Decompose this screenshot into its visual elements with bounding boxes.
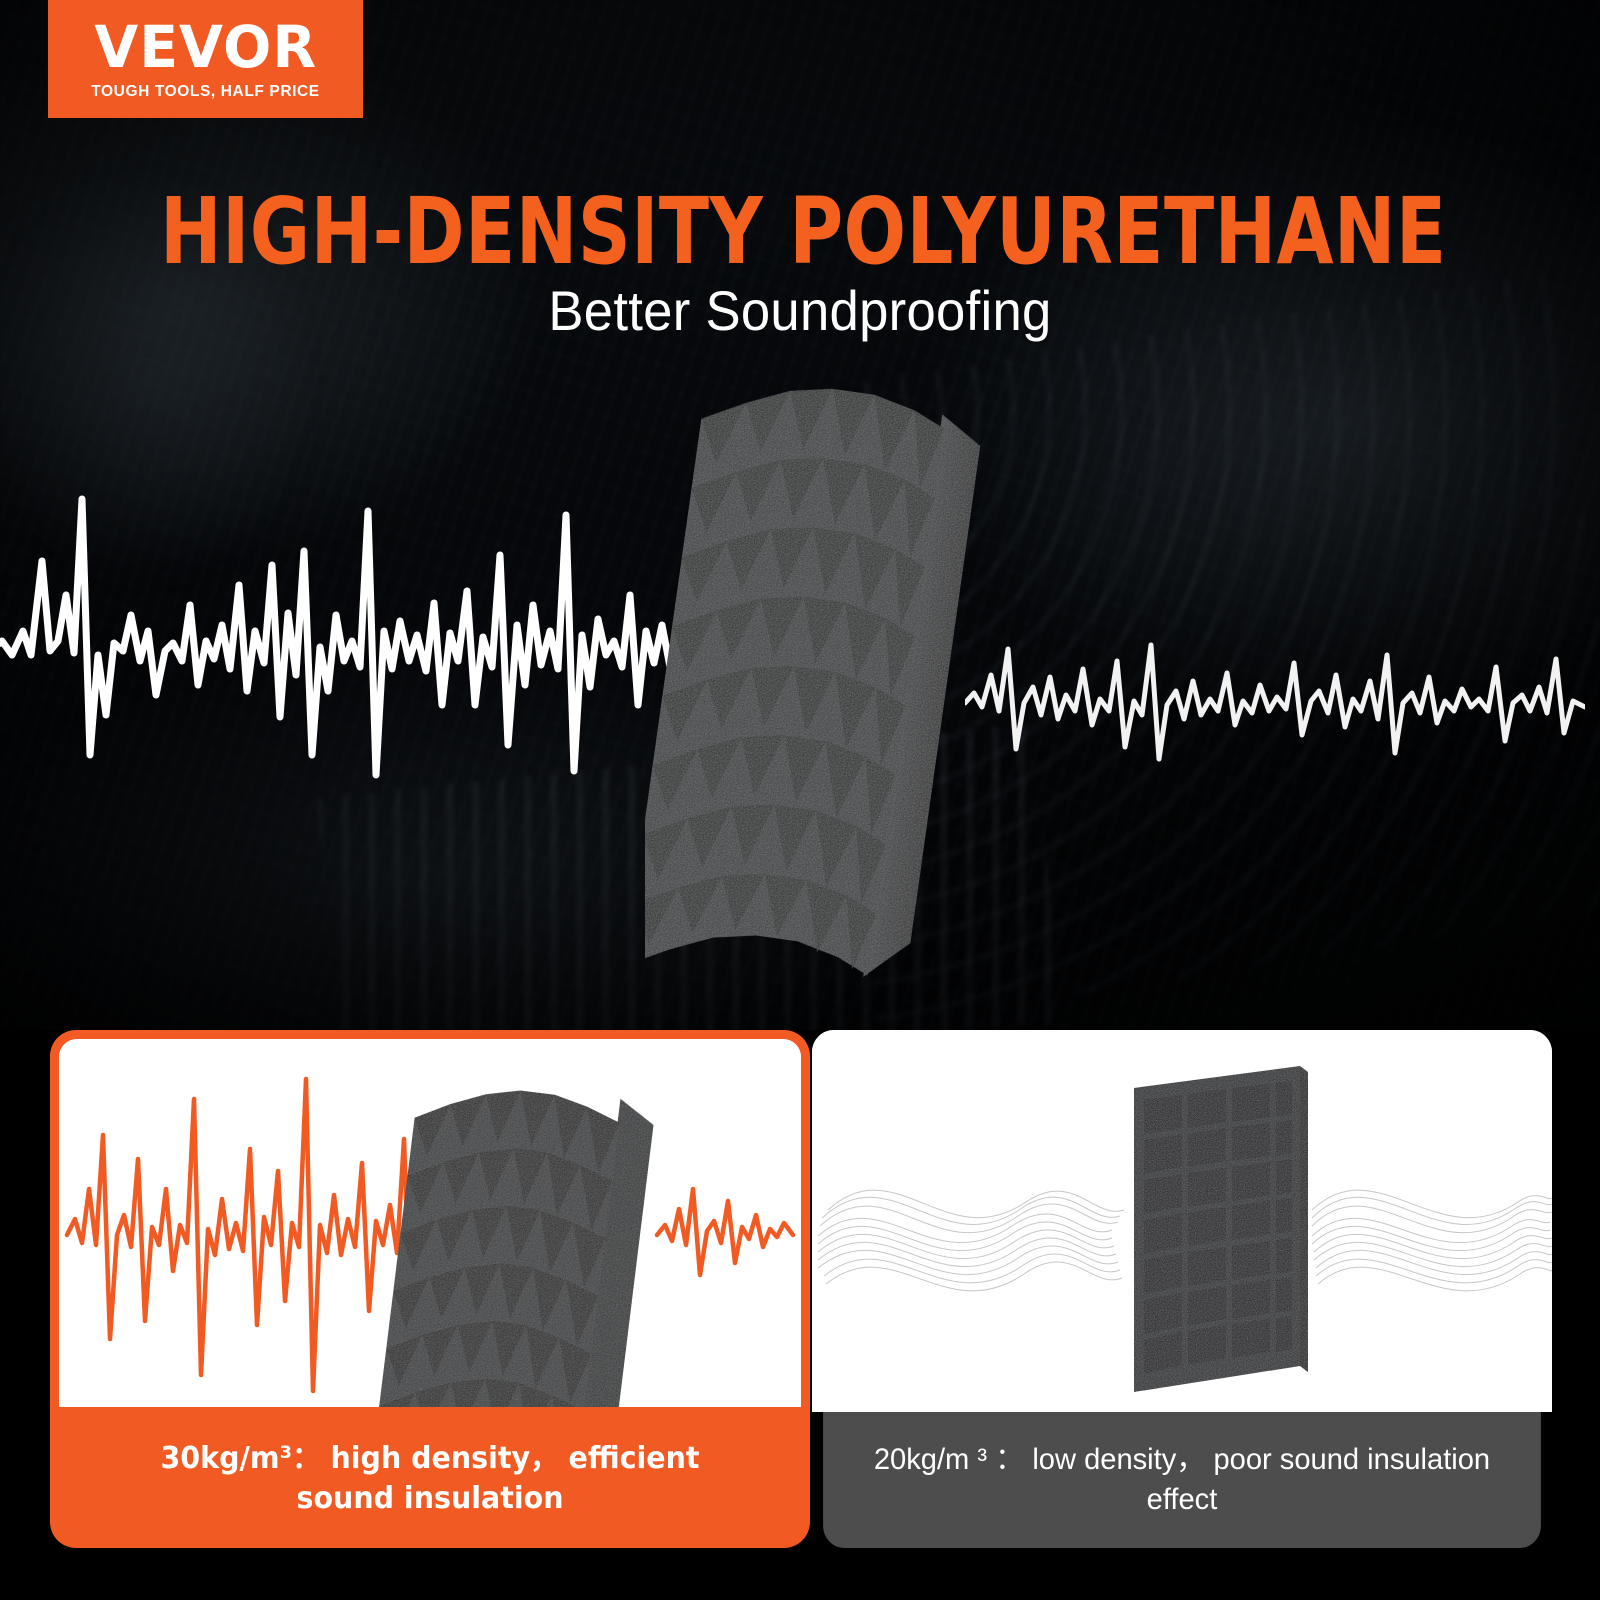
logo-tagline: TOUGH TOOLS, HALF PRICE: [91, 83, 320, 101]
panel-left-image: [59, 1039, 801, 1407]
page-title: HIGH-DENSITY POLYURETHANE: [160, 178, 1440, 285]
vevor-logo: VEVOR TOUGH TOOLS, HALF PRICE: [48, 0, 363, 118]
hero-section: VEVOR TOUGH TOOLS, HALF PRICE HIGH-DENSI…: [0, 0, 1600, 1030]
page-subtitle: Better Soundproofing: [48, 278, 1552, 343]
comparison-section: 30kg/m³： high density， efficient sound i…: [0, 1030, 1600, 1555]
high-density-panel: 30kg/m³： high density， efficient sound i…: [50, 1030, 810, 1548]
low-density-illustration: [812, 1030, 1552, 1412]
loud-sound-waveform-icon: [0, 455, 690, 785]
pyramid-acoustic-foam-panel-icon: [645, 368, 995, 1008]
panel-right-caption: 20kg/m ³ ： low density， poor sound insul…: [823, 1412, 1541, 1548]
high-density-illustration: [59, 1039, 801, 1407]
panel-right-image: [812, 1030, 1552, 1412]
low-density-panel: 20kg/m ³ ： low density， poor sound insul…: [812, 1030, 1552, 1548]
logo-wordmark: VEVOR: [94, 18, 317, 76]
attenuated-sound-waveform-icon: [965, 615, 1585, 785]
panel-left-caption: 30kg/m³： high density， efficient sound i…: [69, 1410, 791, 1548]
